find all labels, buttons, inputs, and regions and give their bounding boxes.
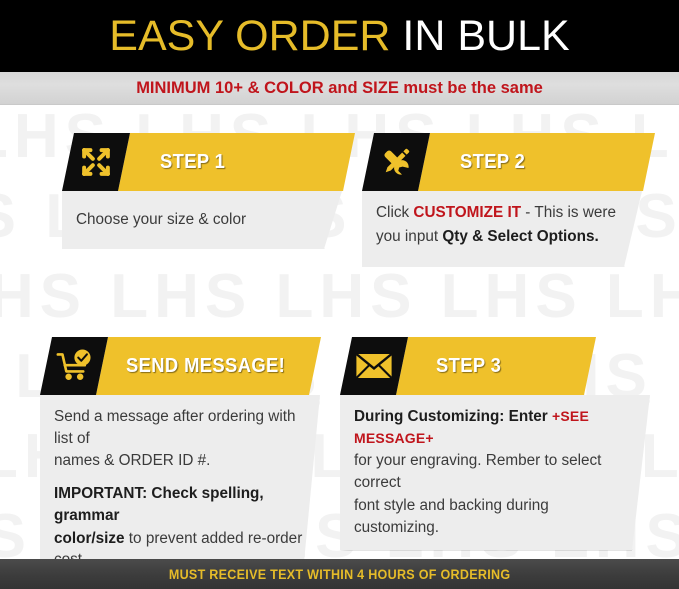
card-step-2-head: STEP 2 [362, 133, 642, 191]
card-step-2-line-2-bold: Qty & Select Options. [442, 228, 598, 245]
footer-text: MUST RECEIVE TEXT WITHIN 4 HOURS OF ORDE… [169, 567, 511, 582]
card-step-3-band: STEP 3 [396, 337, 596, 395]
card-send-message-body: Send a message after ordering with list … [40, 395, 320, 583]
card-step-2-body: Click CUSTOMIZE IT - This is were you in… [362, 191, 642, 267]
card-step-2-line-1-pre: Click [376, 204, 413, 221]
card-step-2-label: STEP 2 [460, 151, 525, 174]
card-step-3-head: STEP 3 [340, 337, 650, 395]
card-send-message-note-1: IMPORTANT: Check spelling, grammar [54, 483, 304, 526]
card-send-message-line-1: Send a message after ordering with list … [54, 406, 304, 449]
footer-bar: MUST RECEIVE TEXT WITHIN 4 HOURS OF ORDE… [0, 559, 679, 589]
card-step-2-line-1: Click CUSTOMIZE IT - This is were [376, 202, 626, 224]
card-send-message-line-2: names & ORDER ID #. [54, 450, 304, 472]
subtitle-text: MINIMUM 10+ & COLOR and SIZE must be the… [136, 80, 543, 97]
card-send-message-note-bold-1: IMPORTANT: [54, 485, 147, 502]
card-step-1-band: STEP 1 [118, 133, 355, 191]
card-step-1: STEP 1 Choose your size & color [62, 133, 342, 249]
card-step-3-line-1: During Customizing: Enter +SEE MESSAGE+ [354, 406, 634, 449]
card-send-message: SEND MESSAGE! Send a message after order… [40, 337, 320, 583]
card-step-2-line-2-pre: you input [376, 228, 442, 245]
header-bar: EASY ORDER IN BULK [0, 0, 679, 72]
card-step-1-text: Choose your size & color [76, 209, 246, 231]
card-step-1-body: Choose your size & color [62, 191, 342, 249]
watermark-text: LHS LHS LHS LHS LHS LHS LHS [0, 266, 679, 328]
card-step-2-line-1-highlight: CUSTOMIZE IT [413, 204, 521, 221]
card-send-message-band: SEND MESSAGE! [96, 337, 321, 395]
page-title: EASY ORDER IN BULK [109, 15, 569, 58]
card-step-3-line-2: for your engraving. Rember to select cor… [354, 450, 634, 493]
card-send-message-label: SEND MESSAGE! [126, 355, 285, 378]
wrench-pencil-icon [362, 133, 430, 191]
subtitle-bar: MINIMUM 10+ & COLOR and SIZE must be the… [0, 72, 679, 105]
card-step-1-label: STEP 1 [160, 151, 225, 174]
card-step-1-head: STEP 1 [62, 133, 342, 191]
card-send-message-head: SEND MESSAGE! [40, 337, 320, 395]
page-title-white: IN BULK [402, 12, 569, 60]
card-step-3: STEP 3 During Customizing: Enter +SEE ME… [340, 337, 650, 550]
cart-check-icon [40, 337, 108, 395]
card-send-message-note-bold-2: color/size [54, 530, 125, 547]
card-step-2-band: STEP 2 [418, 133, 655, 191]
card-step-3-line-1-bold: During Customizing: Enter [354, 408, 552, 425]
card-step-3-label: STEP 3 [436, 355, 501, 378]
card-step-3-line-3: font style and backing during customizin… [354, 495, 634, 538]
card-step-2: STEP 2 Click CUSTOMIZE IT - This is [362, 133, 642, 267]
card-step-2-line-1-post: - This is were [521, 204, 616, 221]
card-step-3-body: During Customizing: Enter +SEE MESSAGE+ … [340, 395, 650, 550]
card-step-2-line-2: you input Qty & Select Options. [376, 226, 626, 248]
envelope-icon [340, 337, 408, 395]
infographic-poster: LHS LHS LHS LHS LHS LHS LHS LHS LHS LHS … [0, 0, 679, 589]
page-title-gold: EASY ORDER [109, 12, 390, 60]
